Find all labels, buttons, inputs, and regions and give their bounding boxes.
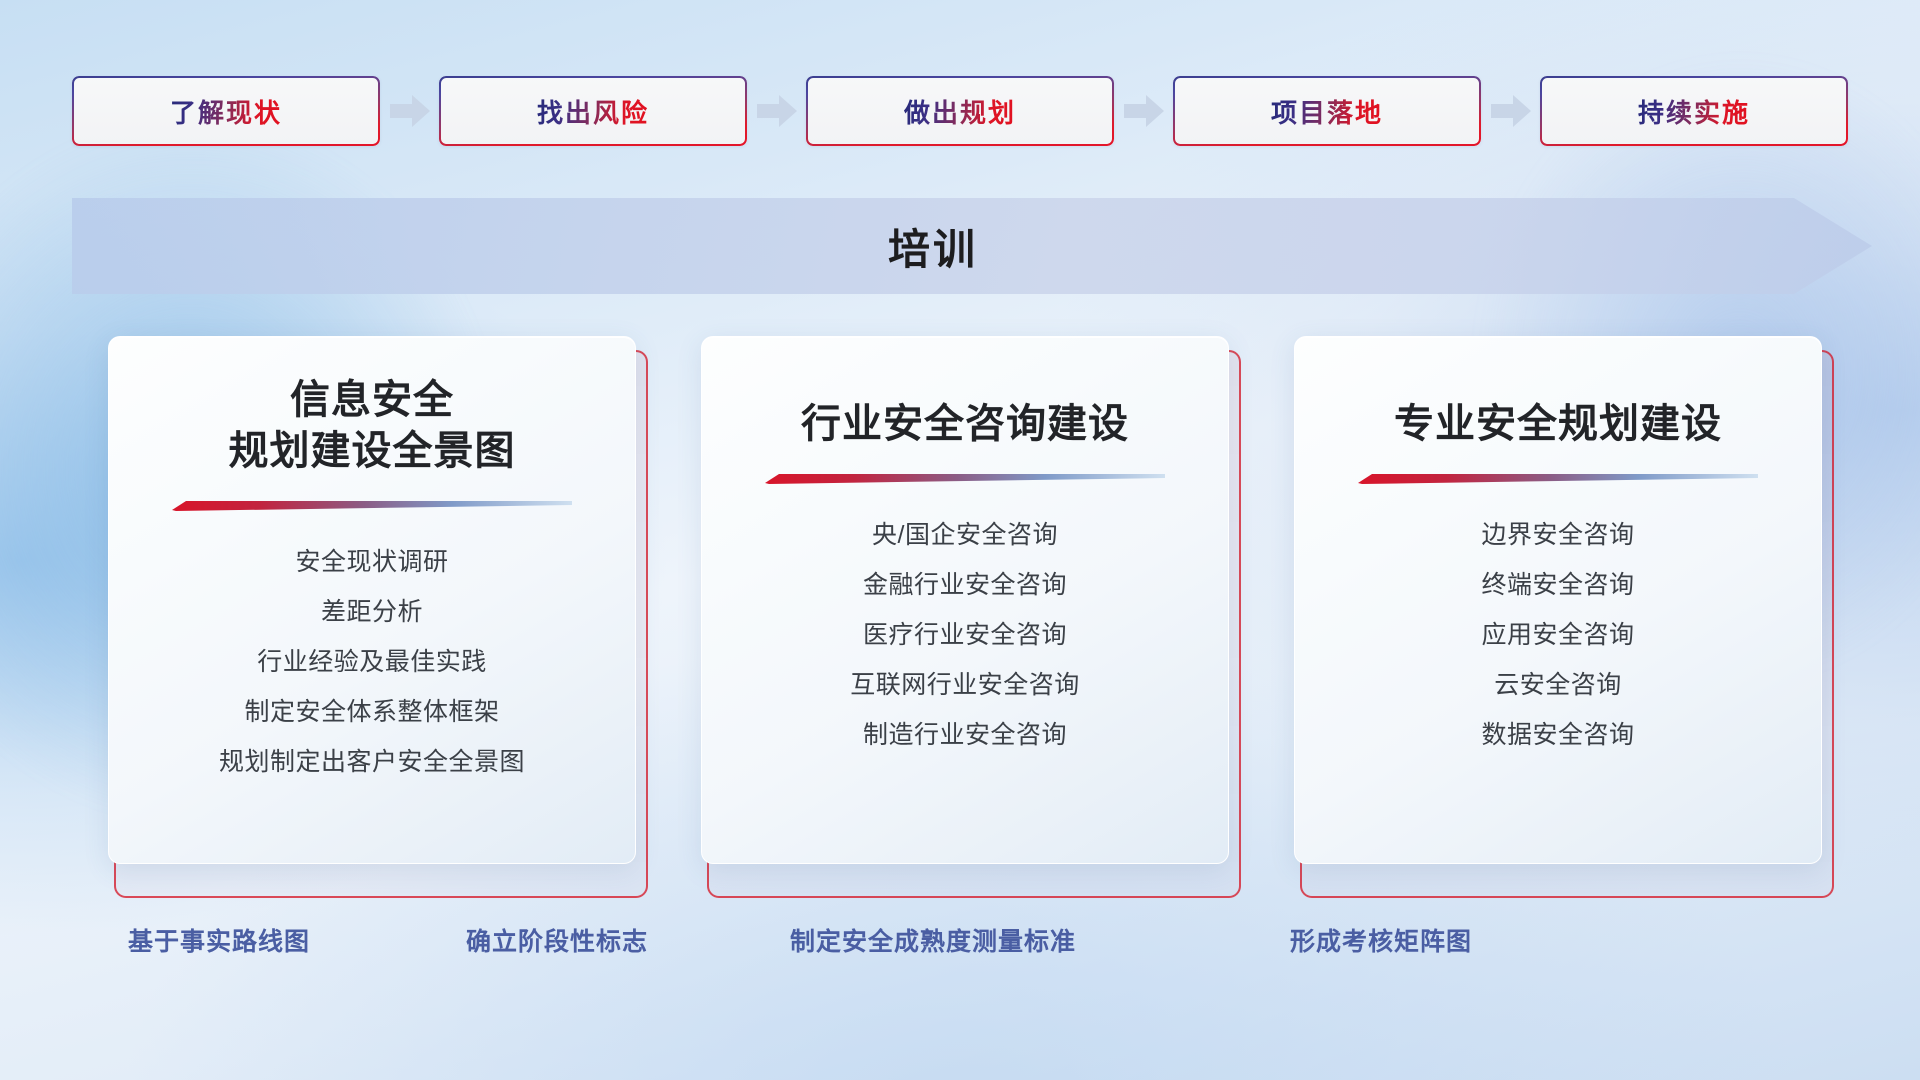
caption-4: 形成考核矩阵图	[1290, 922, 1472, 958]
step-label: 了解现状	[170, 93, 282, 130]
gradient-divider-icon	[172, 499, 572, 513]
training-banner: 培训	[72, 198, 1872, 294]
card-row: 信息安全 规划建设全景图	[108, 336, 1828, 884]
caption-2: 确立阶段性标志	[466, 922, 648, 958]
step-label: 持续实施	[1638, 93, 1750, 130]
slide-canvas: 了解现状 找出风险 做出规划 项目落地	[0, 0, 1920, 1080]
card-3[interactable]: 专业安全规划建设	[1294, 336, 1828, 884]
card-body: 行业安全咨询建设	[701, 336, 1229, 864]
step-box-5[interactable]: 持续实施	[1540, 76, 1848, 146]
banner-title: 培训	[72, 198, 1872, 294]
right-arrow-icon	[757, 95, 797, 127]
caption-1: 基于事实路线图	[128, 922, 310, 958]
process-step-row: 了解现状 找出风险 做出规划 项目落地	[72, 76, 1848, 146]
step-box-2[interactable]: 找出风险	[439, 76, 747, 146]
card-title: 行业安全咨询建设	[702, 399, 1228, 450]
card-item-list: 央/国企安全咨询 金融行业安全咨询 医疗行业安全咨询 互联网行业安全咨询 制造行…	[702, 510, 1228, 760]
list-item: 制定安全体系整体框架	[244, 687, 499, 737]
card-title: 专业安全规划建设	[1295, 399, 1821, 450]
card-title: 信息安全 规划建设全景图	[109, 375, 635, 477]
right-arrow-icon	[390, 95, 430, 127]
caption-row: 基于事实路线图 确立阶段性标志 制定安全成熟度测量标准 形成考核矩阵图	[0, 922, 1920, 970]
right-arrow-icon	[1491, 95, 1531, 127]
list-item: 医疗行业安全咨询	[863, 610, 1067, 660]
card-body: 专业安全规划建设	[1294, 336, 1822, 864]
list-item: 央/国企安全咨询	[872, 510, 1058, 560]
card-2[interactable]: 行业安全咨询建设	[701, 336, 1235, 884]
list-item: 终端安全咨询	[1481, 560, 1634, 610]
card-item-list: 安全现状调研 差距分析 行业经验及最佳实践 制定安全体系整体框架 规划制定出客户…	[109, 537, 635, 787]
card-item-list: 边界安全咨询 终端安全咨询 应用安全咨询 云安全咨询 数据安全咨询	[1295, 510, 1821, 760]
card-body: 信息安全 规划建设全景图	[108, 336, 636, 864]
list-item: 制造行业安全咨询	[863, 710, 1067, 760]
step-label: 项目落地	[1271, 93, 1383, 130]
step-box-1[interactable]: 了解现状	[72, 76, 380, 146]
list-item: 规划制定出客户安全全景图	[219, 737, 525, 787]
list-item: 行业经验及最佳实践	[257, 637, 487, 687]
right-arrow-icon	[1124, 95, 1164, 127]
gradient-divider-icon	[765, 472, 1165, 486]
step-box-4[interactable]: 项目落地	[1173, 76, 1481, 146]
caption-3: 制定安全成熟度测量标准	[790, 922, 1076, 958]
list-item: 金融行业安全咨询	[863, 560, 1067, 610]
list-item: 差距分析	[321, 587, 423, 637]
gradient-divider-icon	[1358, 472, 1758, 486]
card-1[interactable]: 信息安全 规划建设全景图	[108, 336, 642, 884]
list-item: 云安全咨询	[1494, 660, 1622, 710]
list-item: 互联网行业安全咨询	[850, 660, 1080, 710]
list-item: 安全现状调研	[295, 537, 448, 587]
step-label: 找出风险	[537, 93, 649, 130]
list-item: 边界安全咨询	[1481, 510, 1634, 560]
step-box-3[interactable]: 做出规划	[806, 76, 1114, 146]
step-label: 做出规划	[904, 93, 1016, 130]
list-item: 数据安全咨询	[1481, 710, 1634, 760]
list-item: 应用安全咨询	[1481, 610, 1634, 660]
